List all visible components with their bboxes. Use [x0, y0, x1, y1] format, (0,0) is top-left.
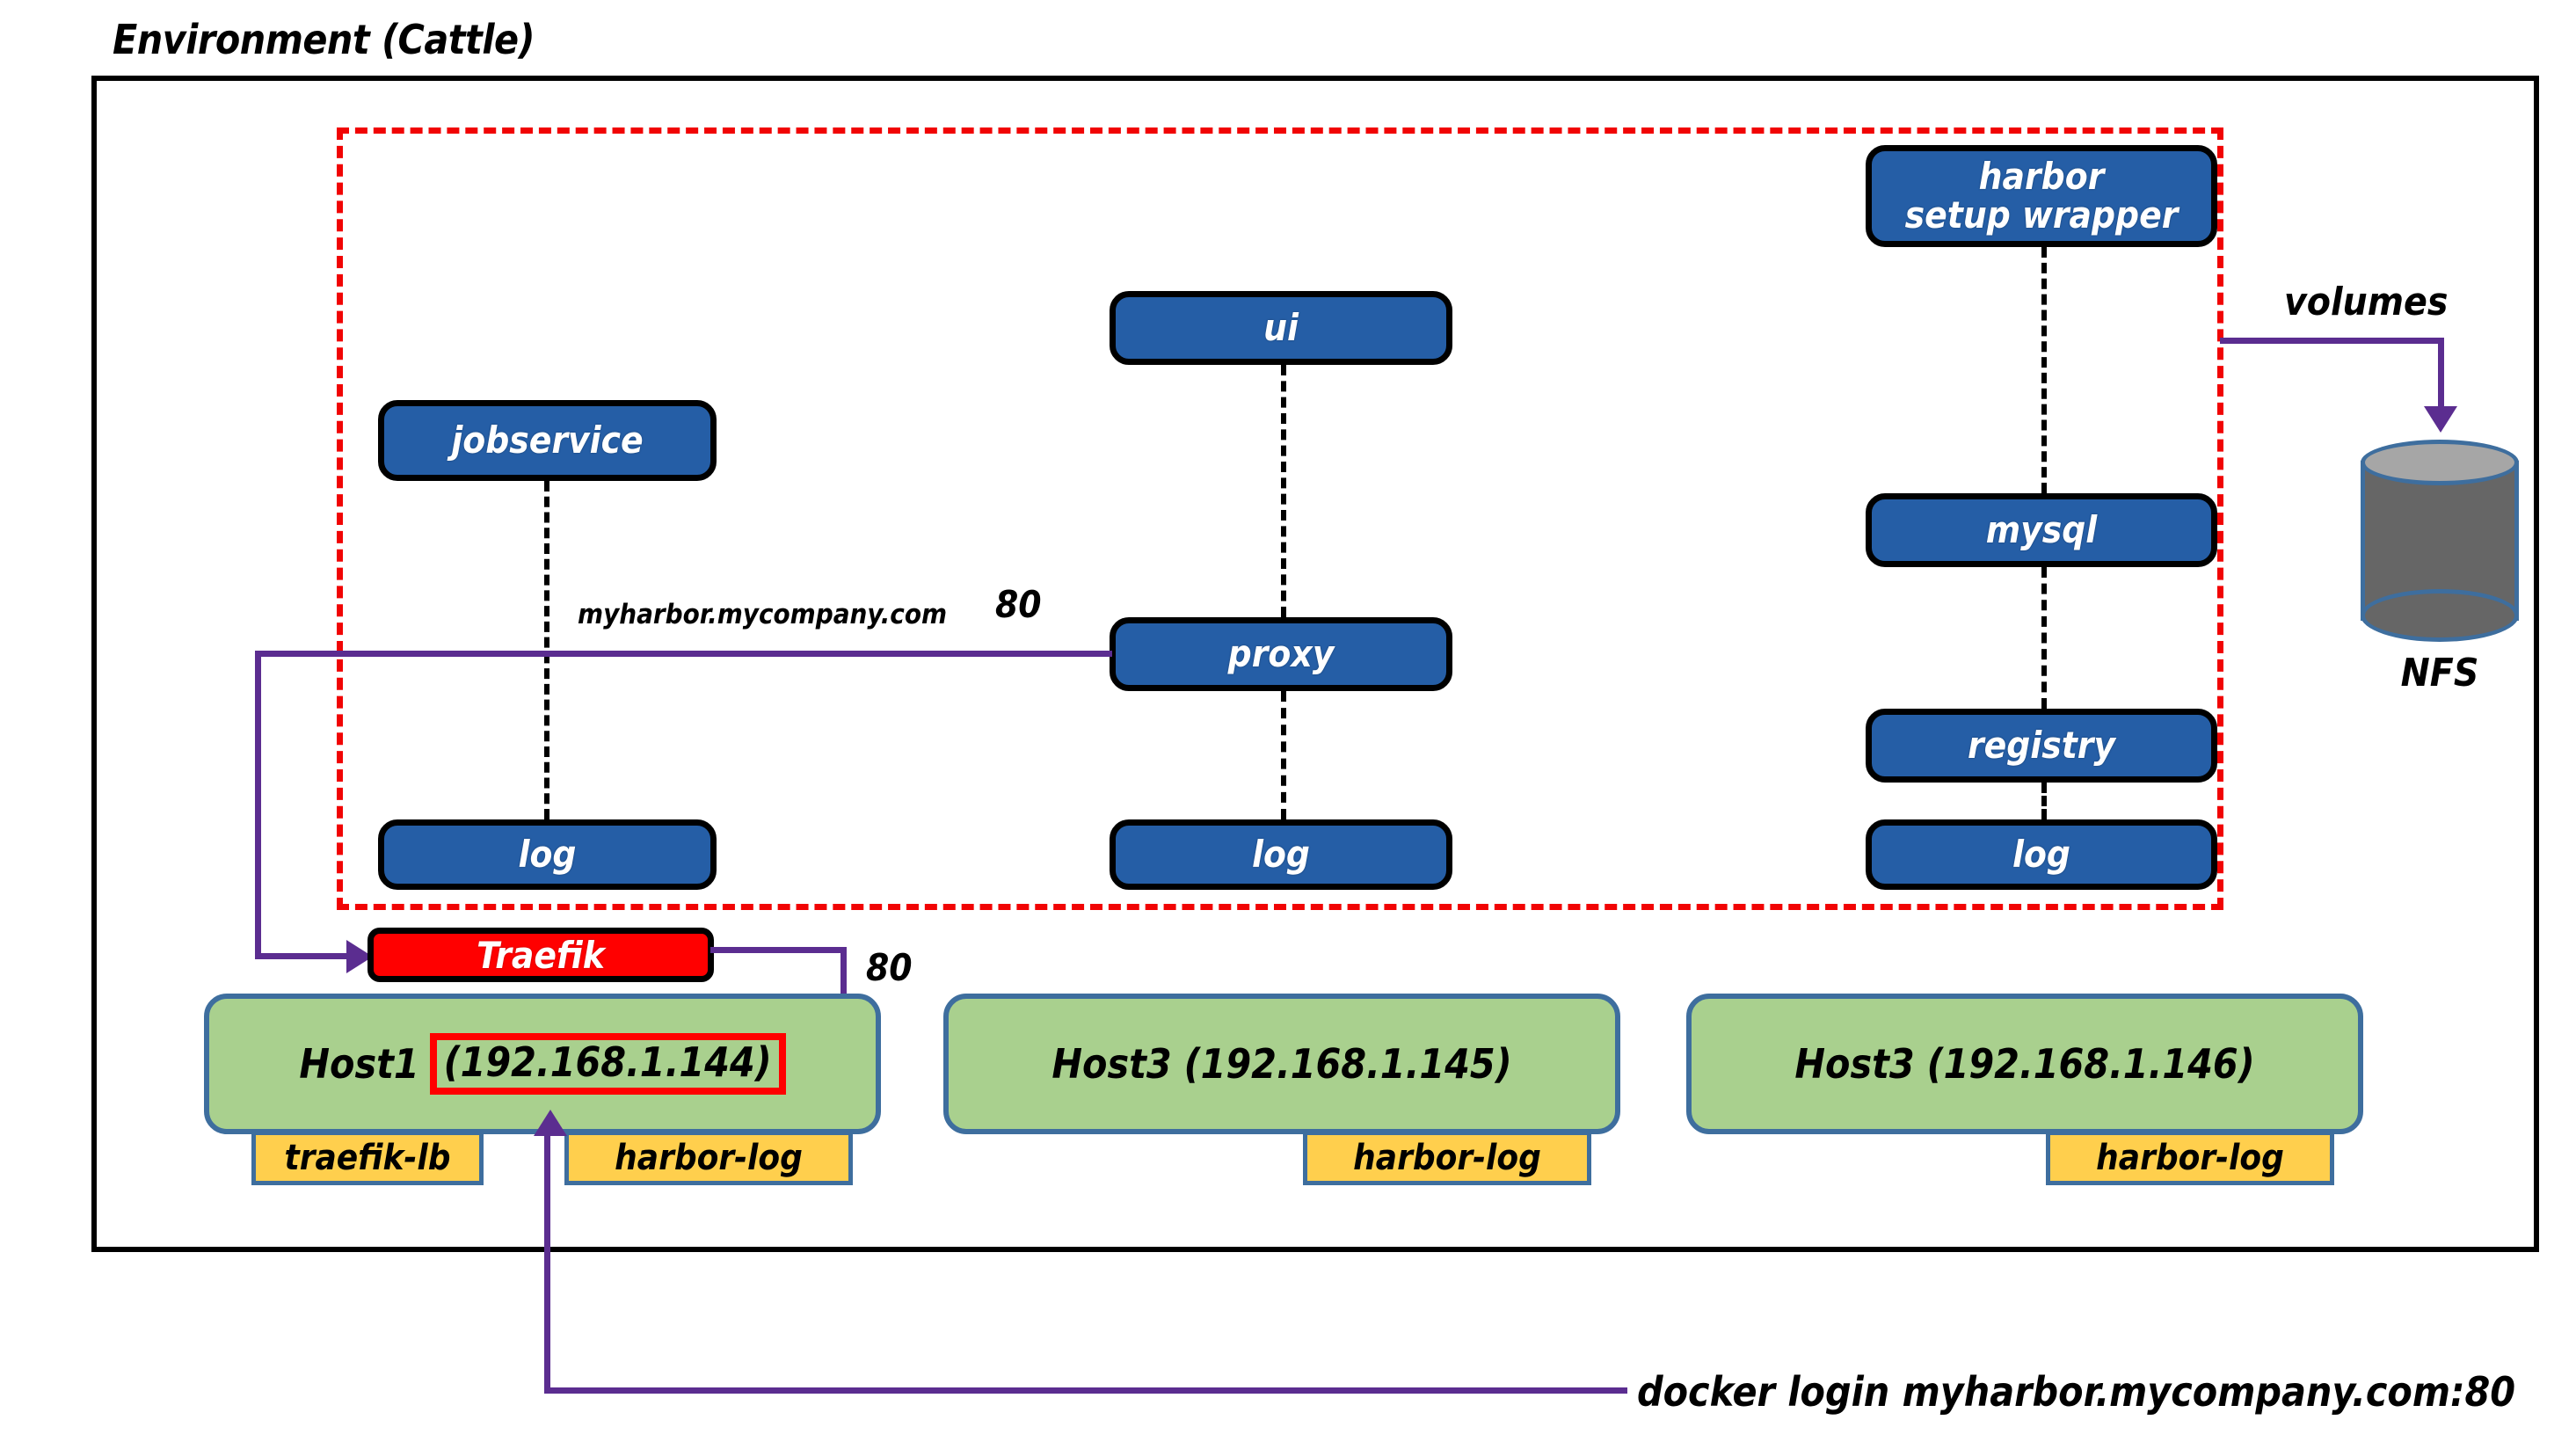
- service-label-harbor-setup-wrapper-line2: setup wrapper: [1905, 196, 2179, 235]
- host-1-tag-traefik-lb-label: traefik-lb: [285, 1138, 451, 1178]
- service-box-registry-log[interactable]: log: [1866, 819, 2217, 890]
- host-box-2[interactable]: Host3 (192.168.1.145): [943, 994, 1620, 1134]
- nfs-cylinder-bottom: [2361, 589, 2519, 642]
- host-2-ip: (192.168.1.145): [1184, 1040, 1512, 1088]
- arrowhead-volumes-to-nfs: [2424, 406, 2457, 433]
- service-label-mysql: mysql: [1986, 511, 2098, 550]
- connector-docker-login-horizontal: [544, 1387, 1627, 1394]
- connector-docker-login-vertical: [544, 1136, 550, 1391]
- host-1-name: Host1: [299, 1040, 418, 1088]
- connector-ingress-vertical: [255, 651, 261, 957]
- service-box-jobservice[interactable]: jobservice: [378, 400, 717, 481]
- connector-registry-log: [2041, 783, 2047, 819]
- host-box-3[interactable]: Host3 (192.168.1.146): [1686, 994, 2363, 1134]
- service-label-proxy: proxy: [1228, 635, 1335, 674]
- service-box-jobservice-log[interactable]: log: [378, 819, 717, 890]
- service-label-registry: registry: [1968, 726, 2115, 765]
- arrowhead-docker-login-to-host1: [534, 1110, 567, 1136]
- nfs-label: NFS: [2401, 651, 2479, 695]
- service-label-registry-log: log: [2012, 835, 2070, 874]
- ingress-domain-label: myharbor.mycompany.com: [578, 599, 947, 630]
- host-1-tag-traefik-lb[interactable]: traefik-lb: [251, 1131, 484, 1185]
- host-3-name: Host3: [1794, 1040, 1914, 1088]
- traefik-label: Traefik: [477, 934, 605, 977]
- environment-title: Environment (Cattle): [113, 16, 535, 63]
- host-2-name: Host3: [1052, 1040, 1171, 1088]
- service-box-proxy-log[interactable]: log: [1110, 819, 1452, 890]
- service-box-proxy[interactable]: proxy: [1110, 617, 1452, 691]
- traefik-port-label: 80: [866, 946, 913, 989]
- ingress-port-label: 80: [995, 583, 1042, 626]
- connector-ui-proxy: [1281, 365, 1286, 617]
- host-1-ip-highlight: (192.168.1.144): [430, 1033, 786, 1095]
- connector-traefik-out-horizontal: [710, 947, 847, 953]
- connector-volumes-vertical: [2438, 338, 2444, 408]
- host-2-tag-harbor-log-label: harbor-log: [1353, 1138, 1541, 1178]
- service-label-jobservice: jobservice: [451, 421, 643, 460]
- service-box-ui[interactable]: ui: [1110, 291, 1452, 365]
- traefik-load-balancer-box[interactable]: Traefik: [367, 928, 714, 982]
- host-3-tag-harbor-log[interactable]: harbor-log: [2046, 1131, 2334, 1185]
- service-box-mysql[interactable]: mysql: [1866, 493, 2217, 567]
- connector-mysql-registry: [2041, 567, 2047, 709]
- host-1-tag-harbor-log[interactable]: harbor-log: [564, 1131, 853, 1185]
- nfs-storage-cylinder: [2361, 440, 2519, 642]
- service-box-harbor-setup-wrapper[interactable]: harbor setup wrapper: [1866, 145, 2217, 247]
- connector-proxy-log: [1281, 691, 1286, 819]
- service-label-harbor-setup-wrapper-line1: harbor: [1979, 157, 2105, 196]
- host-1-tag-harbor-log-label: harbor-log: [615, 1138, 803, 1178]
- service-box-registry[interactable]: registry: [1866, 709, 2217, 783]
- nfs-cylinder-top: [2361, 440, 2519, 485]
- diagram-canvas: Environment (Cattle) jobservice log ui p…: [0, 0, 2576, 1449]
- host-2-tag-harbor-log[interactable]: harbor-log: [1303, 1131, 1591, 1185]
- docker-login-command-label: docker login myharbor.mycompany.com:80: [1637, 1368, 2515, 1416]
- host-3-tag-harbor-log-label: harbor-log: [2096, 1138, 2284, 1178]
- host-3-ip: (192.168.1.146): [1927, 1040, 2255, 1088]
- service-label-jobservice-log: log: [519, 835, 577, 874]
- connector-ingress-bottom-horizontal: [255, 953, 350, 959]
- service-label-proxy-log: log: [1252, 835, 1310, 874]
- connector-wrapper-mysql: [2041, 247, 2047, 493]
- connector-ingress-top-horizontal: [255, 651, 1112, 657]
- volumes-label: volumes: [2284, 280, 2448, 324]
- connector-volumes-horizontal: [2220, 338, 2444, 344]
- service-label-ui: ui: [1263, 309, 1299, 347]
